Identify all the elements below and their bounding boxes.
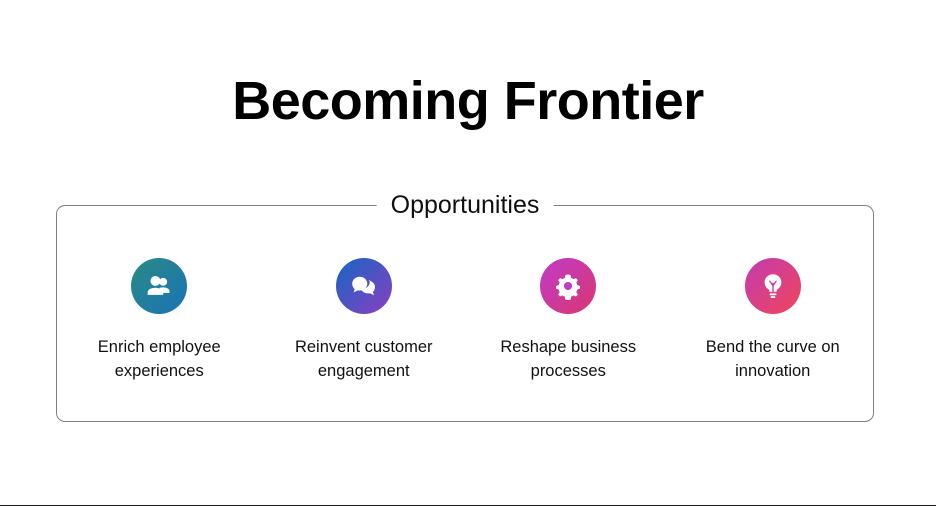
- opportunity-items-row: Enrich employee experiences Reinvent cus…: [57, 258, 875, 384]
- chat-bubbles-icon: [336, 258, 392, 314]
- opportunity-item-innovation[interactable]: Bend the curve on innovation: [675, 258, 871, 384]
- people-group-icon: [131, 258, 187, 314]
- opportunity-item-caption: Reshape business processes: [473, 336, 663, 384]
- opportunities-panel: Opportunities Enrich employee experience…: [56, 205, 874, 422]
- opportunity-item-employee-experiences[interactable]: Enrich employee experiences: [61, 258, 257, 384]
- page-title: Becoming Frontier: [0, 72, 936, 131]
- lightbulb-icon: [745, 258, 801, 314]
- opportunity-item-caption: Enrich employee experiences: [64, 336, 254, 384]
- opportunity-item-customer-engagement[interactable]: Reinvent customer engagement: [266, 258, 462, 384]
- opportunity-item-business-processes[interactable]: Reshape business processes: [470, 258, 666, 384]
- panel-legend: Opportunities: [377, 189, 554, 222]
- opportunity-item-caption: Reinvent customer engagement: [269, 336, 459, 384]
- opportunity-item-caption: Bend the curve on innovation: [678, 336, 868, 384]
- gear-icon: [540, 258, 596, 314]
- slide-canvas: Becoming Frontier Opportunities Enrich e…: [0, 0, 936, 512]
- footer-divider: [0, 505, 936, 506]
